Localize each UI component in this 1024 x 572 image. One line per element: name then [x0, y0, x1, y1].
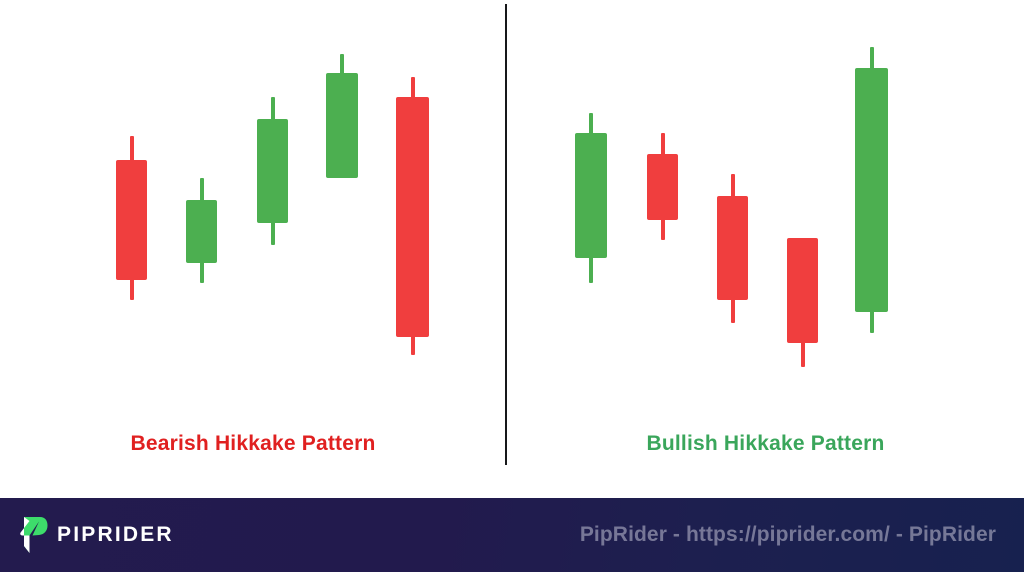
candle-bullish-2 [647, 0, 678, 420]
pattern-label-bullish: Bullish Hikkake Pattern [507, 432, 1024, 456]
candle-bearish-4 [326, 0, 358, 420]
candle-bearish-5 [396, 0, 429, 420]
panel-divider [505, 4, 507, 465]
piprider-bolt-logo-icon [18, 515, 48, 555]
candle-body [575, 133, 607, 258]
candle-bullish-5 [855, 0, 888, 420]
candle-bullish-4 [787, 0, 818, 420]
candle-body [186, 200, 217, 263]
candle-body [855, 68, 888, 312]
candle-body [116, 160, 147, 280]
candlestick-chart-area: Bearish Hikkake Pattern Bullish Hikkake … [0, 0, 1024, 498]
pattern-label-bearish: Bearish Hikkake Pattern [0, 432, 506, 456]
candle-bullish-3 [717, 0, 748, 420]
brand-logo-group: PIPRIDER [18, 515, 174, 555]
candle-body [717, 196, 748, 300]
chart-screenshot: Bearish Hikkake Pattern Bullish Hikkake … [0, 0, 1024, 572]
candle-body [787, 238, 818, 343]
candle-series-bearish [0, 0, 506, 420]
panel-bearish-hikkake: Bearish Hikkake Pattern [0, 0, 506, 498]
candle-bearish-3 [257, 0, 288, 420]
candle-bearish-2 [186, 0, 217, 420]
footer-attribution-text: PipRider - https://piprider.com/ - PipRi… [580, 523, 996, 547]
candle-bearish-1 [116, 0, 147, 420]
candle-bullish-1 [575, 0, 607, 420]
brand-name-text: PIPRIDER [57, 523, 174, 547]
candle-body [257, 119, 288, 223]
candle-body [326, 73, 358, 178]
candle-body [647, 154, 678, 220]
footer-bar: PIPRIDER PipRider - https://piprider.com… [0, 498, 1024, 572]
candle-series-bullish [507, 0, 1024, 420]
panel-bullish-hikkake: Bullish Hikkake Pattern [507, 0, 1024, 498]
candle-body [396, 97, 429, 337]
